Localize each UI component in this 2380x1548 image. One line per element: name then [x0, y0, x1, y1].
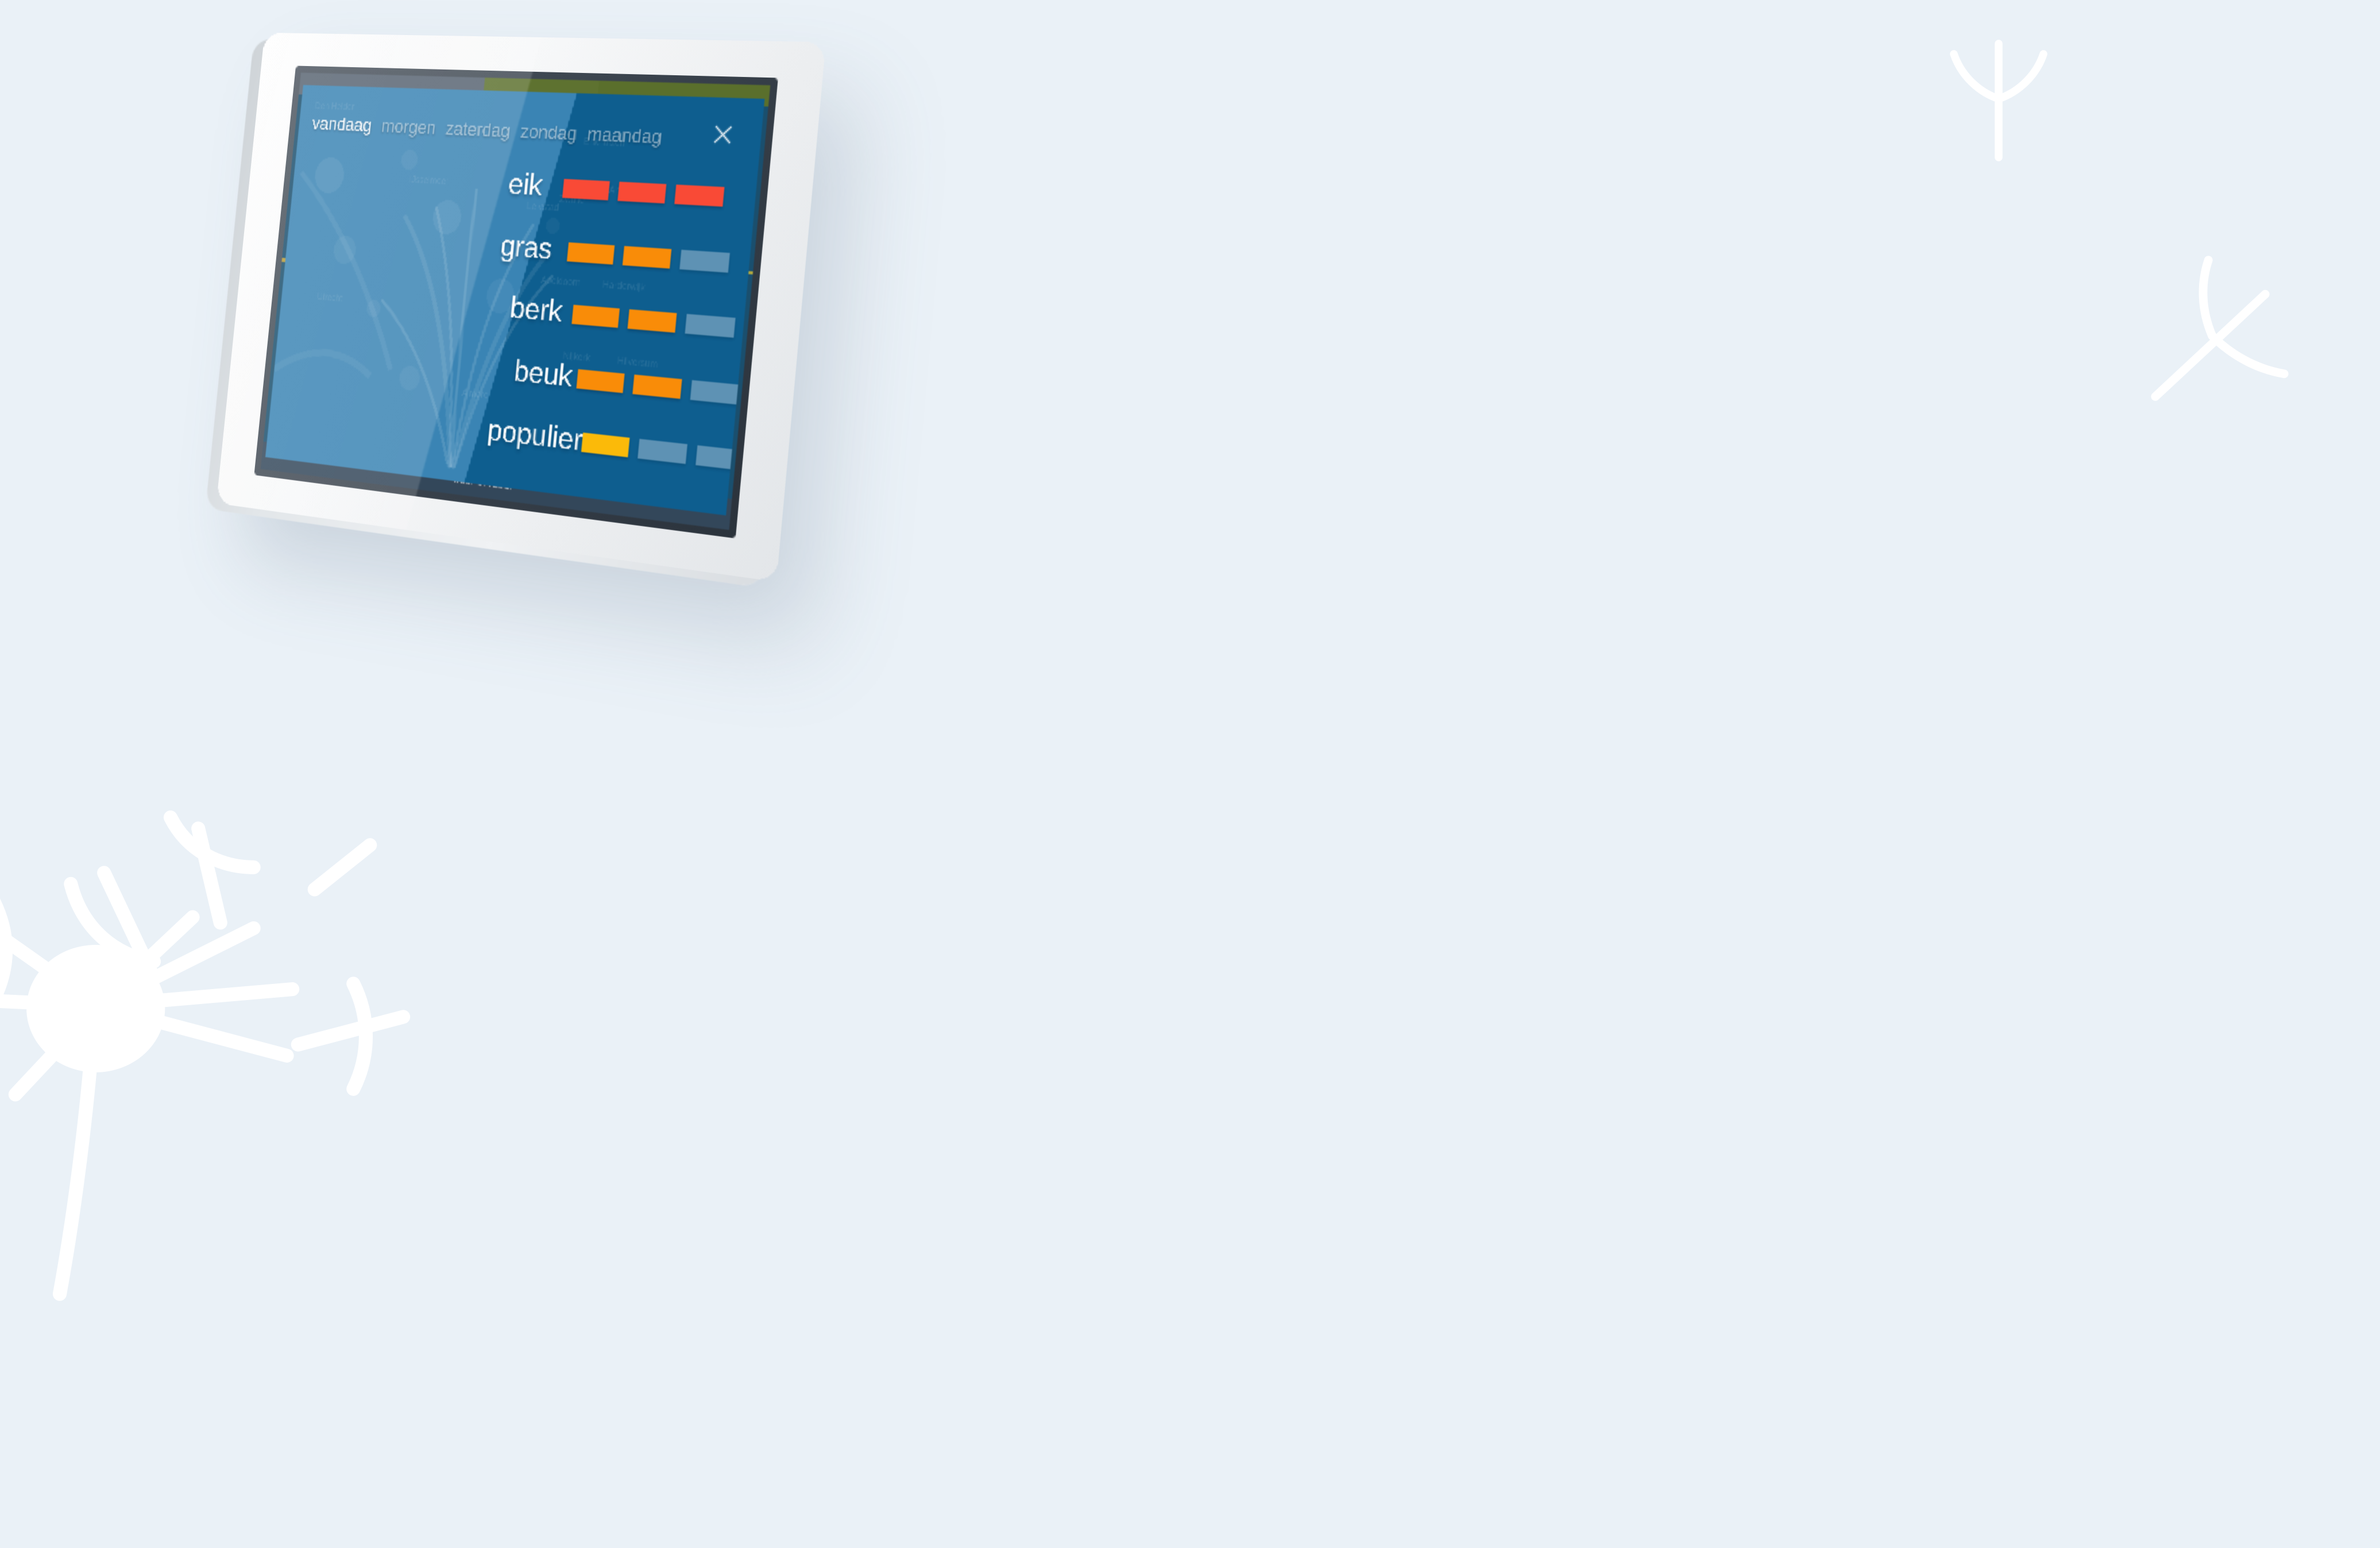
level-bar-none	[690, 379, 741, 404]
ghost-place-name: Hilversum	[617, 356, 658, 370]
ghost-place-name: Amsterdam	[608, 186, 655, 198]
level-bar-low	[581, 433, 630, 457]
day-tab-zaterdag[interactable]: zaterdag	[445, 118, 511, 142]
allergen-row-list: eikgrasberkbeukpopulier	[266, 157, 758, 505]
day-tab-vandaag[interactable]: vandaag	[311, 113, 373, 136]
level-bar-none	[685, 314, 736, 337]
pollen-overlay-ui: vandaagmorgenzaterdagzondagmaandag eikgr…	[265, 85, 764, 515]
pollen-seed-top-right-2-icon	[2125, 230, 2315, 419]
pollen-overlay-screen: Den Helder Enkhuizen IJsselmeer Amsterda…	[265, 85, 764, 515]
level-bar-medium	[628, 309, 677, 333]
day-tab-morgen[interactable]: morgen	[380, 115, 436, 138]
level-bar-high	[617, 182, 666, 203]
page-root: weer of radar	[0, 0, 2380, 1548]
ghost-place-name: Lelystad	[526, 202, 559, 214]
close-icon	[709, 121, 736, 148]
level-bar-medium	[632, 374, 682, 398]
map-marker	[739, 186, 748, 192]
allergen-level-bars	[571, 305, 735, 338]
level-bar-none	[679, 249, 730, 272]
day-tab-bar[interactable]: vandaagmorgenzaterdagzondagmaandag	[311, 113, 663, 148]
allergen-level-bars	[577, 368, 741, 404]
level-bar-none	[637, 439, 687, 464]
ghost-place-name: Harderwijk	[602, 280, 645, 294]
day-tab-zondag[interactable]: zondag	[519, 121, 578, 145]
allergen-level-bars	[581, 433, 747, 471]
map-road-right	[732, 269, 753, 274]
tablet-wrapper: weer of radar	[190, 34, 1977, 1473]
tablet-device: weer of radar	[217, 33, 826, 582]
allergen-label-eik: eik	[292, 157, 543, 204]
close-button[interactable]	[709, 121, 736, 148]
level-bar-medium	[623, 245, 671, 268]
screen-bezel: weer of radar	[254, 65, 778, 538]
level-bar-high	[674, 184, 724, 207]
